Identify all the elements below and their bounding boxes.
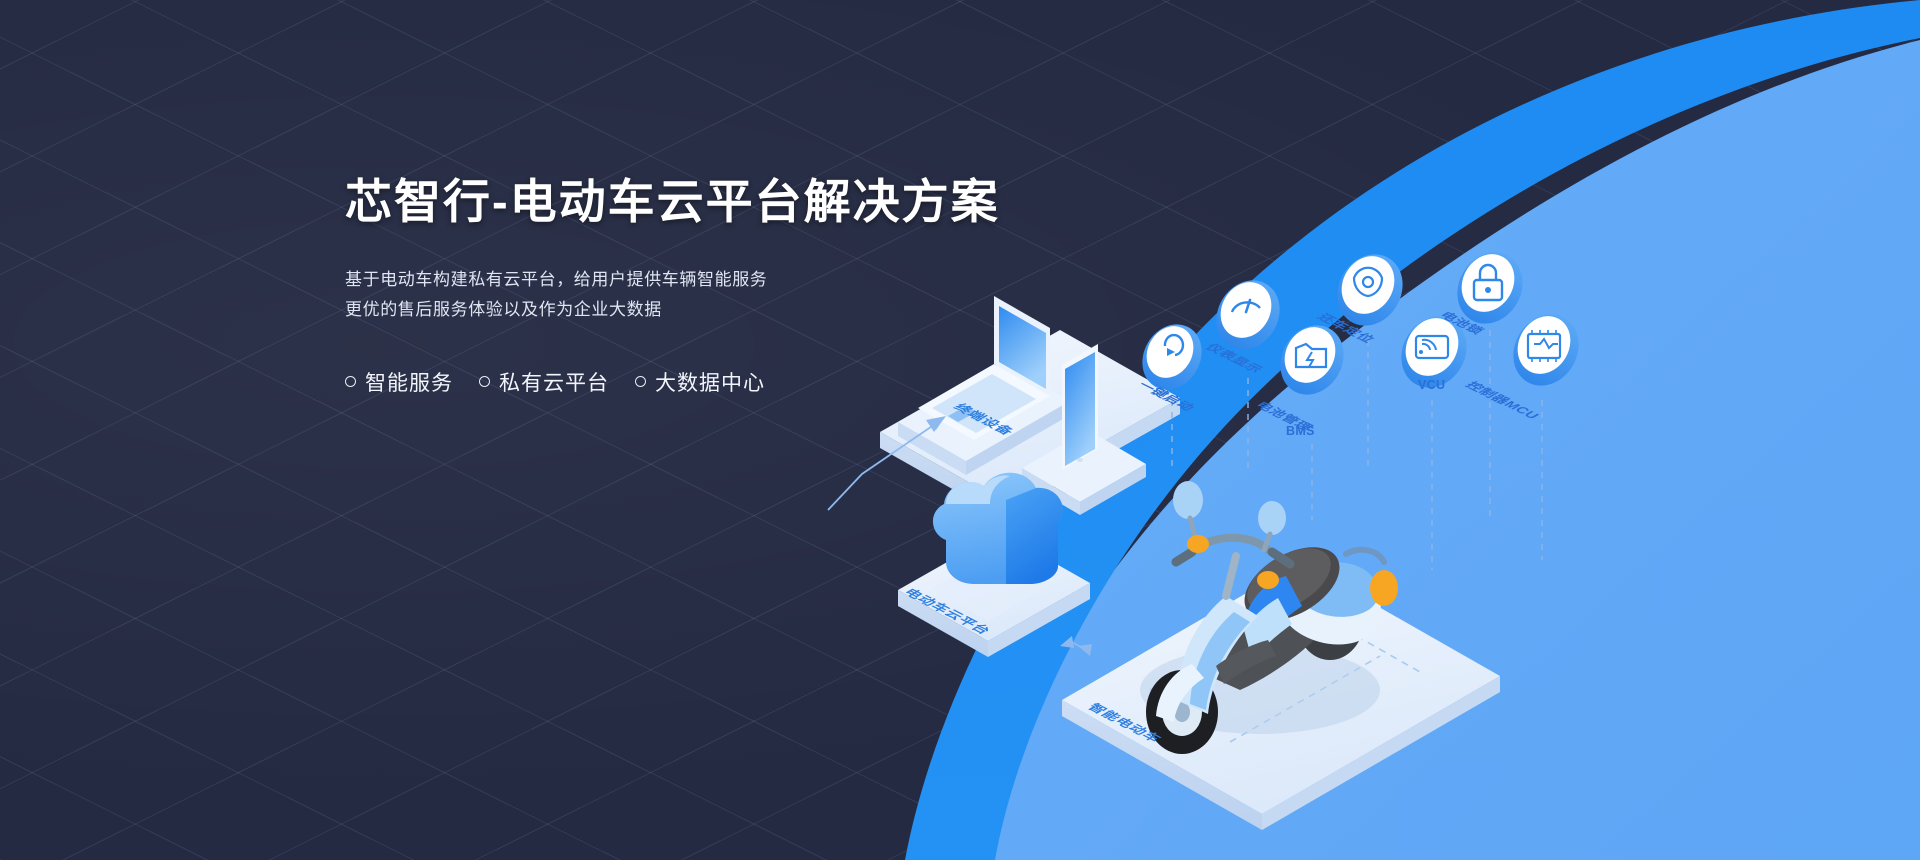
- badge-vcu[interactable]: [1389, 304, 1480, 399]
- badge-return-locate[interactable]: [1325, 242, 1416, 337]
- badge-mcu[interactable]: [1501, 302, 1592, 397]
- badge-bms[interactable]: [1268, 314, 1356, 406]
- feature-badges: [1131, 240, 1592, 406]
- arrow-head-b: [1078, 644, 1092, 656]
- smart-scooter: [1140, 481, 1398, 754]
- banner-root: 芯智行-电动车云平台解决方案 基于电动车构建私有云平台，给用户提供车辆智能服务 …: [0, 0, 1920, 860]
- arrow-head-a: [1060, 636, 1074, 648]
- isometric-illustration: [0, 0, 1920, 860]
- badge-dashboard[interactable]: [1204, 269, 1292, 361]
- badge-battery-lock[interactable]: [1445, 240, 1536, 335]
